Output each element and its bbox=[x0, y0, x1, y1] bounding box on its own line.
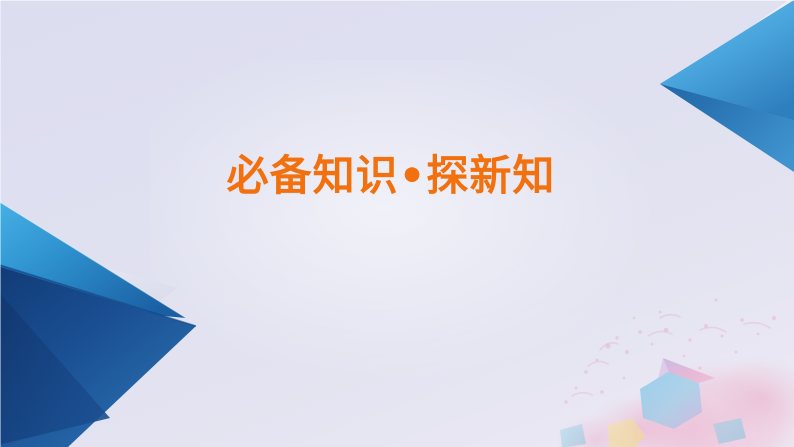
page-title-block: 必备知识•探新知 bbox=[0, 152, 794, 200]
page-title: 必备知识•探新知 bbox=[227, 152, 556, 200]
slide-canvas: 必备知识•探新知 bbox=[0, 0, 794, 447]
blue-triangle-cluster-bottom-left bbox=[0, 0, 794, 447]
